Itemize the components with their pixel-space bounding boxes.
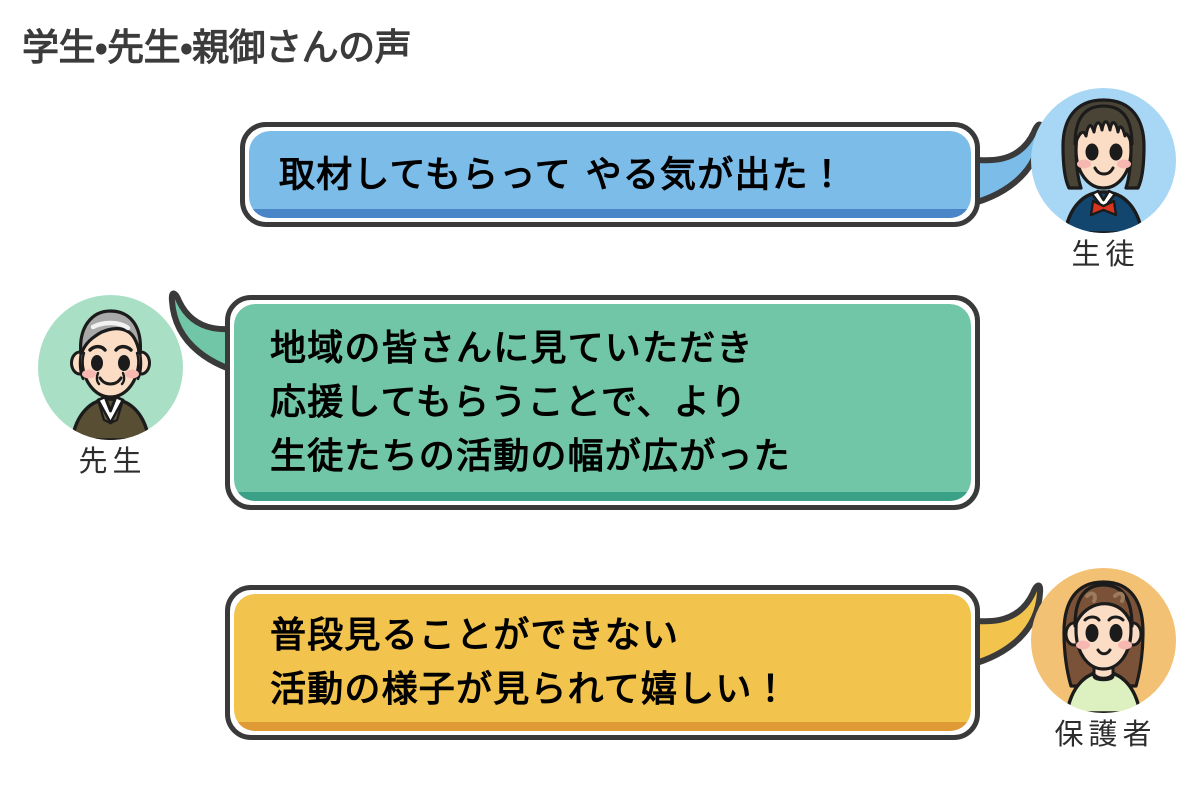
page-title: 学生・先生・親御さんの声 [22, 26, 411, 70]
avatar-label-parent: 保護者 [1018, 719, 1188, 751]
avatar-label-student: 生徒 [1018, 239, 1188, 271]
parent-woman-avatar [1031, 568, 1176, 713]
speech-bubble-teacher: 地域の皆さんに見ていただき 応援してもらうことで、より 生徒たちの活動の幅が広が… [225, 295, 980, 510]
bubble-body-student: 取材してもらって やる気が出た！ [240, 122, 980, 227]
bubble-body-teacher: 地域の皆さんに見ていただき 応援してもらうことで、より 生徒たちの活動の幅が広が… [225, 295, 980, 510]
student-girl-avatar [1031, 88, 1176, 233]
testimonial-quote-teacher: 地域の皆さんに見ていただき 応援してもらうことで、より 生徒たちの活動の幅が広が… [230, 322, 975, 484]
avatar-block-teacher: 先生 [25, 295, 195, 478]
bubble-body-parent: 普段見ることができない 活動の様子が見られて嬉しい！ [225, 585, 980, 740]
testimonial-quote-parent: 普段見ることができない 活動の様子が見られて嬉しい！ [230, 609, 975, 717]
teacher-man-avatar [38, 295, 183, 440]
testimonial-row-parent: 普段見ることができない 活動の様子が見られて嬉しい！ [0, 560, 1200, 790]
avatar-label-teacher: 先生 [25, 446, 195, 478]
avatar-block-student: 生徒 [1018, 88, 1188, 271]
speech-bubble-student: 取材してもらって やる気が出た！ [240, 122, 980, 227]
speech-bubble-parent: 普段見ることができない 活動の様子が見られて嬉しい！ [225, 585, 980, 740]
bubble-inner-shadow [249, 209, 971, 218]
bubble-inner-shadow [234, 722, 971, 731]
avatar-block-parent: 保護者 [1018, 568, 1188, 751]
testimonial-row-teacher: 先生 地域の皆さんに見ていただき 応援してもらうことで、より 生徒たちの活動の幅… [0, 285, 1200, 515]
bubble-inner-shadow [234, 492, 971, 501]
testimonial-quote-student: 取材してもらって やる気が出た！ [245, 149, 975, 200]
testimonial-row-student: 取材してもらって やる気が出た！ [0, 88, 1200, 308]
